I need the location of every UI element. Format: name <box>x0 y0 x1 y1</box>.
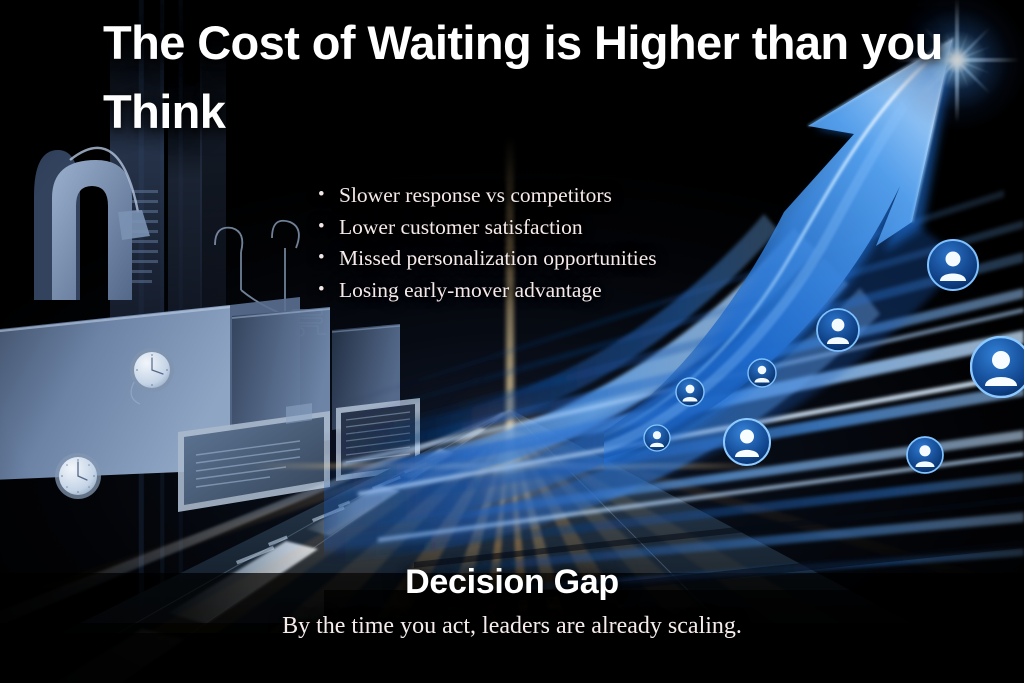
list-item: Slower response vs competitors <box>318 180 657 212</box>
page-title: The Cost of Waiting is Higher than you T… <box>103 8 943 146</box>
text-layer: The Cost of Waiting is Higher than you T… <box>0 0 1024 683</box>
pain-point-list: Slower response vs competitors Lower cus… <box>318 180 657 306</box>
list-item: Missed personalization opportunities <box>318 243 657 275</box>
list-item: Lower customer satisfaction <box>318 212 657 244</box>
list-item: Losing early-mover advantage <box>318 275 657 307</box>
footer-title: Decision Gap <box>0 563 1024 602</box>
poster-canvas: The Cost of Waiting is Higher than you T… <box>0 0 1024 683</box>
footer-subtitle: By the time you act, leaders are already… <box>0 613 1024 640</box>
